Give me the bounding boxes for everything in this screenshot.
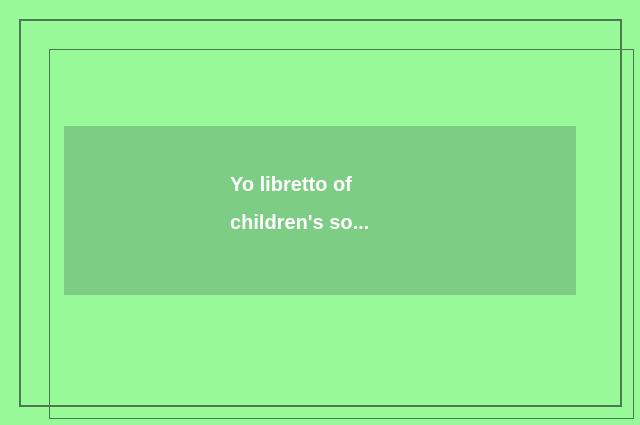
caption-overlay-panel: Yo libretto of children's so... [64,126,576,295]
caption-title-text: Yo libretto of children's so... [230,166,410,242]
placeholder-image-canvas: Yo libretto of children's so... [0,0,640,425]
